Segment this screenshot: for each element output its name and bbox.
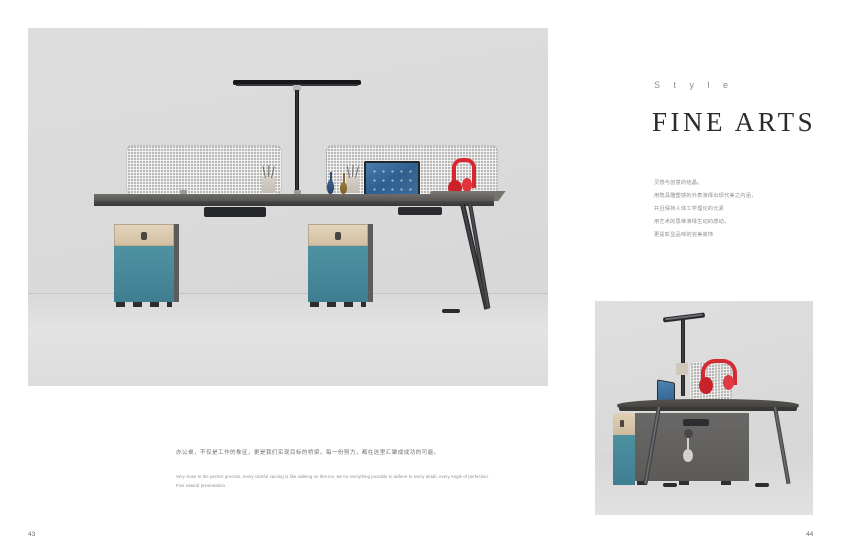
- pedestal-wood-top: [308, 224, 368, 246]
- secondary-product-photo: [595, 301, 813, 515]
- pen: [268, 165, 269, 177]
- laptop-icon-grid: [370, 167, 414, 191]
- desktop-edge: [619, 407, 797, 411]
- desk-leg-foot: [755, 483, 769, 487]
- catalog-spread: S t y l e FINE ARTS 灵感与创意的结晶。 用既具雕塑感的外表演…: [0, 0, 860, 559]
- pedestal-side-panel: [174, 224, 179, 302]
- desktop-edge: [94, 201, 494, 206]
- caption-english-block: Very close to the perfect process, every…: [176, 474, 506, 492]
- desk-lamp-pole: [295, 90, 299, 206]
- desk-lamp-base: [676, 363, 688, 375]
- pedestal-teal-body: [308, 246, 368, 302]
- pen-holder: [346, 176, 359, 193]
- desk-leg-foot: [442, 309, 460, 313]
- modesty-panel-feet: [637, 481, 747, 485]
- page-number-left: 43: [28, 531, 35, 538]
- body-copy-line: 灵感与创意的结晶。: [654, 180, 824, 187]
- pedestal-wood-top: [613, 413, 635, 435]
- body-copy-line: 用既具雕塑感的外表演绎出现代美之内涵，: [654, 193, 824, 200]
- pedestal-feet: [310, 302, 366, 307]
- hero-product-photo: [28, 28, 548, 386]
- pedestal-teal-body: [114, 246, 174, 302]
- laptop-screen: [364, 161, 420, 197]
- body-copy-block: 灵感与创意的结晶。 用既具雕塑感的外表演绎出现代美之内涵， 并且保持人体工学理论…: [654, 180, 824, 245]
- pedestal-handle: [335, 232, 341, 240]
- hero-floor: [28, 294, 548, 386]
- pedestal-side-panel: [368, 224, 373, 302]
- style-kicker: S t y l e: [654, 80, 734, 90]
- pedestal-teal-body: [613, 435, 635, 485]
- caption-chinese: 办公桌，不仅是工作的象征，更是我们实现目标的桥梁。每一份努力，都在这里汇聚成成功…: [176, 448, 440, 456]
- pedestal-feet: [116, 302, 172, 307]
- pedestal-wood-top: [114, 224, 174, 246]
- desk-lamp-pole: [681, 320, 685, 396]
- cable-grommet: [684, 429, 693, 438]
- page-number-right: 44: [806, 531, 813, 538]
- pedestal-handle: [141, 232, 147, 240]
- body-copy-line: 更是彰显品味的完美装饰: [654, 232, 824, 239]
- pedestal-cabinet-left: [114, 224, 174, 307]
- pen-holder: [262, 176, 275, 193]
- cable-tray: [683, 419, 709, 426]
- caption-english-line: Very close to the perfect process, every…: [176, 474, 506, 480]
- decor-vase-blue: [327, 180, 334, 194]
- pedestal-cabinet-right: [308, 224, 368, 307]
- headphones-earcup: [699, 377, 713, 394]
- cable-tray: [204, 207, 266, 217]
- headphones-earcup: [723, 375, 734, 390]
- headphones-earcup: [462, 178, 472, 192]
- decor-vase-gold: [340, 182, 347, 194]
- caption-english-line: Fine natural presentation.: [176, 483, 506, 489]
- body-copy-line: 并且保持人体工学理论的元素: [654, 206, 824, 213]
- desk-leg-foot: [663, 483, 677, 487]
- power-plug: [683, 449, 693, 462]
- page-title: FINE ARTS: [652, 107, 816, 138]
- body-copy-line: 用艺术的思维演绎生动的感动，: [654, 219, 824, 226]
- cable-tray: [398, 207, 442, 215]
- desktop-surface: [94, 194, 494, 201]
- pedestal-handle: [620, 420, 624, 427]
- privacy-screen-left: [126, 145, 282, 195]
